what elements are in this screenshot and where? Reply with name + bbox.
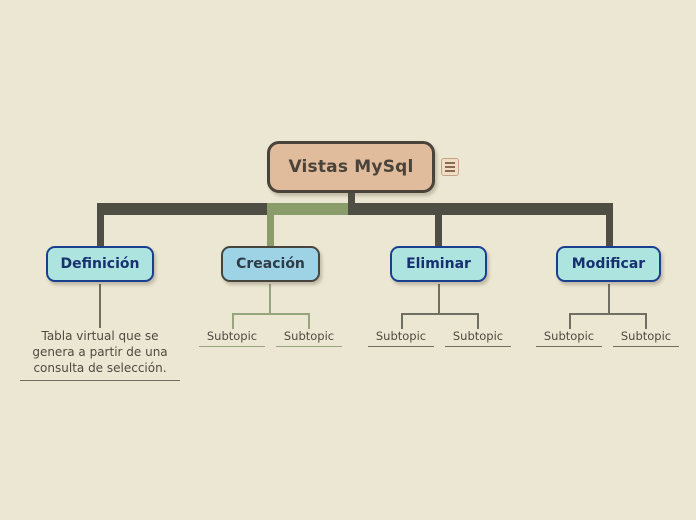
root-node[interactable]: Vistas MySql <box>267 141 435 193</box>
connector-drop-definicion <box>97 203 104 251</box>
notes-icon-line <box>445 170 455 172</box>
branch-node-label: Definición <box>61 256 140 272</box>
connector-modificar-sub2 <box>645 313 647 329</box>
connector-creacion-stem <box>269 284 271 314</box>
note-text-definicion[interactable]: Tabla virtual que se genera a partir de … <box>20 328 180 381</box>
connector-trunk-accent <box>270 203 350 215</box>
connector-creacion-sub2 <box>308 313 310 329</box>
connector-trunk-left <box>97 203 273 215</box>
subtopic-modificar-2[interactable]: Subtopic <box>613 329 679 347</box>
branch-node-creacion[interactable]: Creación <box>221 246 320 282</box>
connector-definicion-note <box>99 284 101 328</box>
branch-node-eliminar[interactable]: Eliminar <box>390 246 487 282</box>
connector-modificar-sub1 <box>569 313 571 329</box>
branch-node-label: Eliminar <box>406 256 471 272</box>
subtopic-creacion-1[interactable]: Subtopic <box>199 329 265 347</box>
notes-icon-line <box>445 166 455 168</box>
branch-node-label: Modificar <box>572 256 645 272</box>
subtopic-eliminar-1[interactable]: Subtopic <box>368 329 434 347</box>
branch-node-label: Creación <box>236 256 305 272</box>
connector-drop-modificar <box>606 203 613 251</box>
connector-trunk-right <box>348 203 613 215</box>
connector-drop-creacion <box>267 203 274 251</box>
connector-creacion-bar <box>232 313 310 315</box>
branch-node-definicion[interactable]: Definición <box>46 246 154 282</box>
connector-drop-eliminar <box>435 203 442 251</box>
subtopic-modificar-1[interactable]: Subtopic <box>536 329 602 347</box>
connector-modificar-bar <box>569 313 647 315</box>
branch-node-modificar[interactable]: Modificar <box>556 246 661 282</box>
connector-eliminar-stem <box>438 284 440 314</box>
subtopic-eliminar-2[interactable]: Subtopic <box>445 329 511 347</box>
root-node-label: Vistas MySql <box>288 157 413 177</box>
connector-creacion-sub1 <box>232 313 234 329</box>
mindmap-canvas: Vistas MySql Definición Creación Elimina… <box>0 0 696 520</box>
connector-eliminar-sub1 <box>401 313 403 329</box>
connector-modificar-stem <box>608 284 610 314</box>
connector-eliminar-sub2 <box>477 313 479 329</box>
notes-icon-line <box>445 162 455 164</box>
notes-icon[interactable] <box>441 158 459 176</box>
subtopic-creacion-2[interactable]: Subtopic <box>276 329 342 347</box>
connector-eliminar-bar <box>401 313 479 315</box>
